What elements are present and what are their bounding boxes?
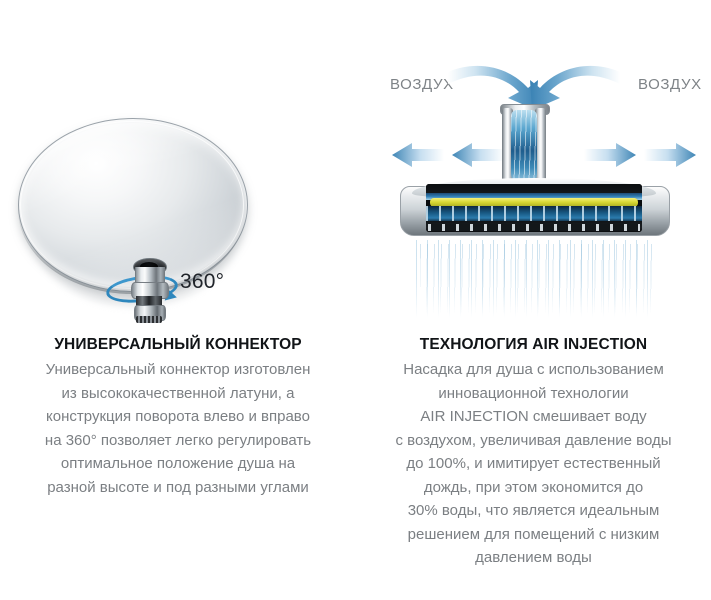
body-line: инновационной технологии bbox=[364, 382, 703, 406]
nozzle-row bbox=[428, 224, 640, 231]
air-arrow-right-inner-icon bbox=[584, 142, 636, 168]
body-line: из высококачественной латуни, а bbox=[8, 382, 348, 406]
left-body-copy: Универсальный коннектор изготовлен из вы… bbox=[0, 358, 356, 499]
body-line: AIR INJECTION смешивает воду bbox=[364, 405, 703, 429]
air-arrow-right-outer-icon bbox=[644, 142, 696, 168]
water-inlet-cutaway bbox=[502, 108, 546, 184]
body-line: решением для помещений с низким bbox=[364, 523, 703, 547]
body-line: до 100%, и имитирует естественный bbox=[364, 452, 703, 476]
right-heading: ТЕХНОЛОГИЯ AIR INJECTION bbox=[356, 336, 711, 354]
body-line: на 360° позволяет легко регулировать bbox=[8, 429, 348, 453]
inlet-water-stream bbox=[511, 110, 537, 184]
universal-connector bbox=[131, 258, 167, 324]
air-arrow-left-inner-icon bbox=[452, 142, 504, 168]
body-line: Универсальный коннектор изготовлен bbox=[8, 358, 348, 382]
body-line: Насадка для душа с использованием bbox=[364, 358, 703, 382]
right-visual-panel: ВОЗДУХ ВОЗДУХ bbox=[356, 0, 711, 330]
body-line: дождь, при этом экономится до bbox=[364, 476, 703, 500]
feature-page: 360° ВОЗДУХ ВОЗДУХ bbox=[0, 0, 711, 600]
visuals-row: 360° ВОЗДУХ ВОЗДУХ bbox=[0, 0, 711, 330]
connector-knurling bbox=[136, 316, 162, 323]
shower-plate-illustration: 360° bbox=[18, 118, 248, 303]
body-line: давлением воды bbox=[364, 546, 703, 570]
rotation-degree-label: 360° bbox=[180, 270, 224, 294]
left-visual-panel: 360° bbox=[0, 0, 356, 330]
right-text-column: ТЕХНОЛОГИЯ AIR INJECTION Насадка для душ… bbox=[356, 330, 711, 570]
body-line: с воздухом, увеличивая давление воды bbox=[364, 429, 703, 453]
body-line: оптимальное положение душа на bbox=[8, 452, 348, 476]
left-text-column: УНИВЕРСАЛЬНЫЙ КОННЕКТОР Универсальный ко… bbox=[0, 330, 356, 499]
left-heading: УНИВЕРСАЛЬНЫЙ КОННЕКТОР bbox=[0, 336, 356, 354]
shower-head-interior bbox=[426, 184, 642, 232]
air-label-right: ВОЗДУХ bbox=[638, 76, 702, 93]
air-label-left: ВОЗДУХ bbox=[390, 76, 454, 93]
body-line: конструкция поворота влево и вправо bbox=[8, 405, 348, 429]
body-line: 30% воды, что является идеальным bbox=[364, 499, 703, 523]
water-spray-detail bbox=[420, 244, 652, 314]
texts-row: УНИВЕРСАЛЬНЫЙ КОННЕКТОР Универсальный ко… bbox=[0, 330, 711, 600]
shower-head-cutaway bbox=[400, 178, 668, 244]
interior-mixing-chamber bbox=[426, 206, 642, 222]
body-line: разной высоте и под разными углами bbox=[8, 476, 348, 500]
right-body-copy: Насадка для душа с использованием иннова… bbox=[356, 358, 711, 570]
air-arrow-left-outer-icon bbox=[392, 142, 444, 168]
